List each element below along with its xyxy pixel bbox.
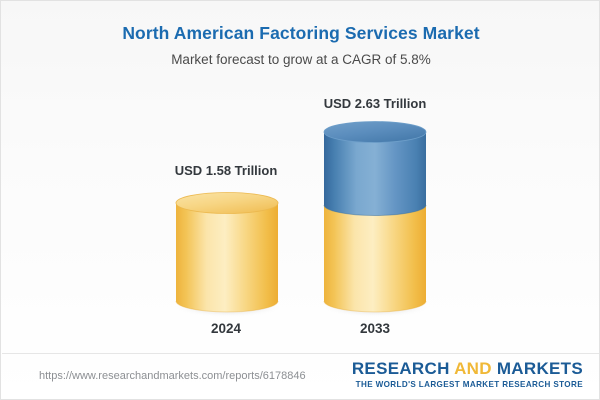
report-url[interactable]: https://www.researchandmarkets.com/repor… [39, 370, 306, 382]
footer: https://www.researchandmarkets.com/repor… [1, 354, 600, 400]
category-label-2033: 2033 [295, 321, 455, 336]
bar-cylinder-2024 [174, 192, 280, 318]
chart-plot-area: USD 1.58 Trillion USD 2.63 Trillion 2024… [1, 1, 600, 353]
infographic-card: North American Factoring Services Market… [0, 0, 600, 400]
logo-wordmark: RESEARCH AND MARKETS [352, 360, 583, 378]
category-label-2024: 2024 [146, 321, 306, 336]
bar-cylinder-2033 [322, 121, 428, 318]
research-and-markets-logo[interactable]: RESEARCH AND MARKETS THE WORLD'S LARGEST… [352, 360, 583, 389]
logo-tagline: THE WORLD'S LARGEST MARKET RESEARCH STOR… [352, 380, 583, 389]
logo-word-markets: MARKETS [497, 359, 583, 378]
logo-word-and: AND [454, 359, 492, 378]
logo-word-research: RESEARCH [352, 359, 450, 378]
value-label-2024: USD 1.58 Trillion [126, 163, 326, 178]
value-label-2033: USD 2.63 Trillion [275, 96, 475, 111]
